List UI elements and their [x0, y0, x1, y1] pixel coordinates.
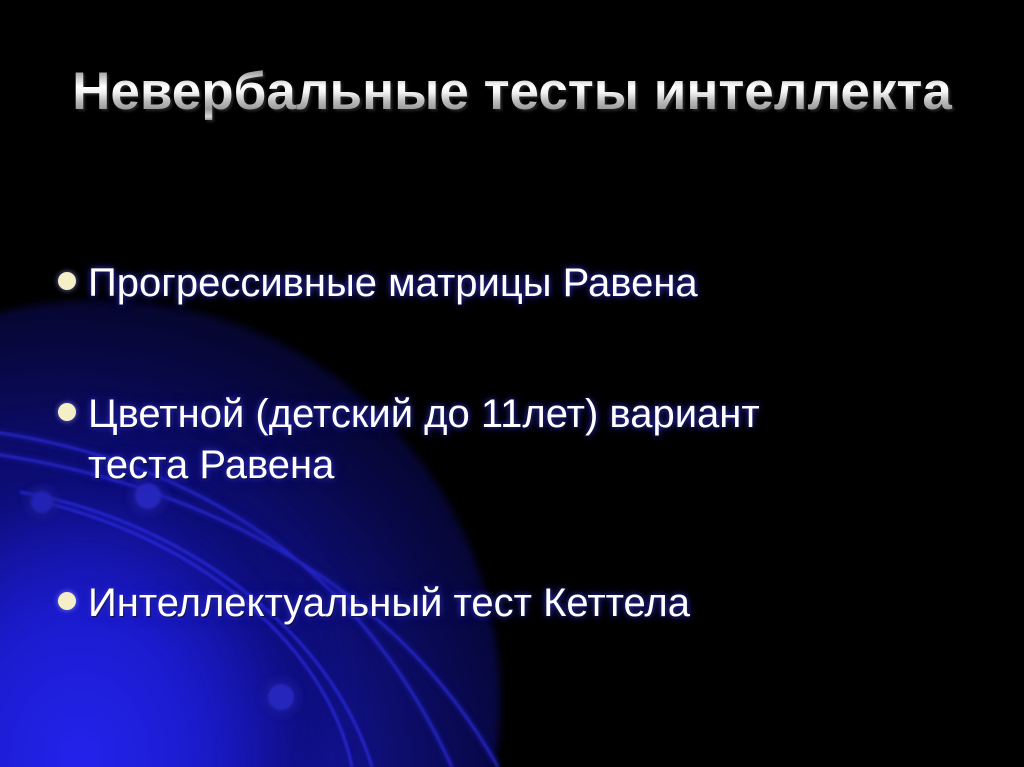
arc-line-3 — [20, 492, 372, 767]
list-item-line: Интеллектуальный тест Кеттела — [88, 578, 958, 629]
list-item-text: Интеллектуальный тест Кеттела — [88, 578, 958, 629]
filled-circle-bullet-icon — [58, 272, 76, 290]
list-item-line: Цветной (детский до 11лет) вариант — [88, 389, 958, 440]
filled-circle-bullet-icon — [58, 592, 76, 610]
list-item-text: Прогрессивные матрицы Равена — [88, 258, 958, 309]
list-item-line: Прогрессивные матрицы Равена — [88, 258, 958, 309]
arc-node-1 — [31, 491, 53, 513]
arc-node-halo-1 — [25, 485, 59, 519]
corner-glow-outer — [0, 300, 500, 767]
list-item[interactable]: Прогрессивные матрицы Равена — [58, 258, 958, 309]
slide-title: Невербальные тесты интеллекта — [0, 62, 1024, 121]
arc-node-halo-3 — [261, 677, 301, 717]
list-item-line: теста Равена — [88, 440, 958, 491]
list-item[interactable]: Цветной (детский до 11лет) вариант теста… — [58, 389, 958, 491]
list-item[interactable]: Интеллектуальный тест Кеттела — [58, 578, 958, 629]
list-item-text: Цветной (детский до 11лет) вариант теста… — [88, 389, 958, 491]
presentation-slide: Невербальные тесты интеллекта Прогрессив… — [0, 0, 1024, 767]
filled-circle-bullet-icon — [58, 403, 76, 421]
arc-node-3 — [268, 684, 294, 710]
arc-line-4 — [34, 500, 352, 767]
